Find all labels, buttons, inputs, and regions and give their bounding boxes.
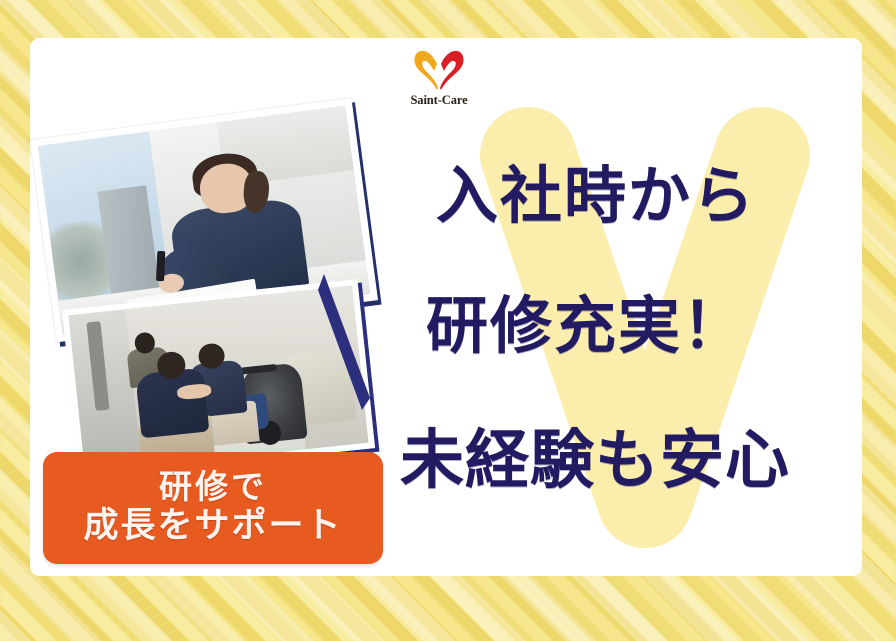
badge-line-1: 研修で — [159, 470, 267, 504]
headline-block: 入社時から 研修充実！ 未経験も安心 — [392, 150, 888, 550]
brand-wordmark: Saint-Care — [396, 93, 482, 108]
photo1-pen — [156, 251, 165, 282]
recruitment-banner: Saint-Care 入社時から 研修充実！ 未経験も安心 研修で 成長をサポー… — [0, 0, 896, 641]
saint-care-heart-logo — [410, 48, 468, 92]
headline-line-1: 入社時から — [436, 166, 756, 228]
headline-line-3: 未経験も安心 — [400, 428, 790, 492]
training-support-badge: 研修で 成長をサポート — [43, 452, 383, 564]
headline-line-2: 研修充実！ — [426, 296, 746, 358]
photo2-scene — [69, 286, 369, 473]
brand-logo: Saint-Care — [396, 48, 482, 112]
photo-care-training — [62, 279, 375, 479]
badge-line-2: 成長をサポート — [83, 508, 342, 544]
